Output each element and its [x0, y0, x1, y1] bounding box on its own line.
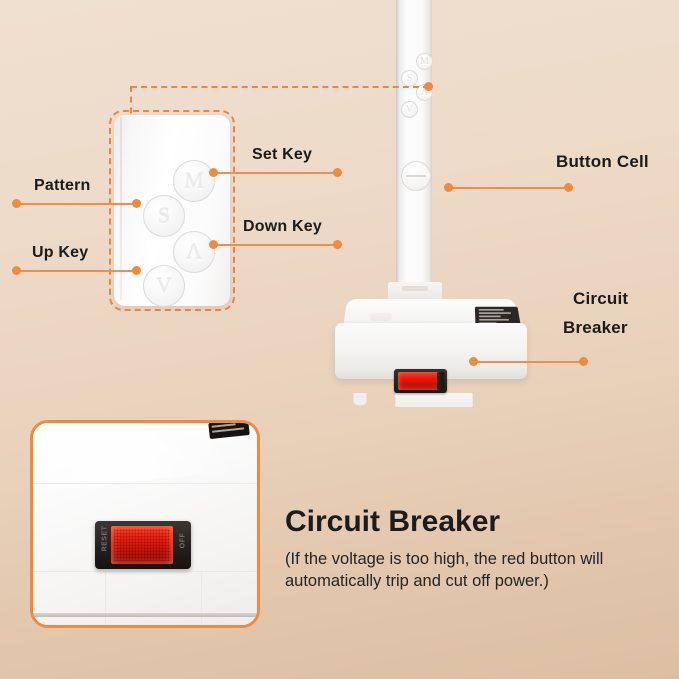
- circuit-breaker-switch-closeup[interactable]: RESET OFF: [95, 521, 191, 569]
- lamp-pole: [396, 0, 432, 293]
- leader-line-circuit-breaker: [473, 361, 583, 363]
- lamp-hinge-slot: [402, 286, 428, 291]
- leader-line-button-cell: [448, 187, 568, 189]
- circuit-breaker-photo-card: RESET OFF: [30, 420, 260, 628]
- leader-dot-down-key-inner: [209, 240, 218, 249]
- photo-seam-bottom: [33, 571, 257, 572]
- panel-down-key[interactable]: Λ: [173, 231, 215, 273]
- label-circuit-breaker-line1: Circuit: [573, 289, 628, 309]
- leader-dot-up-key-inner: [132, 266, 141, 275]
- lamp-pole-edge: [396, 0, 399, 293]
- photo-seam-top: [33, 483, 257, 484]
- infographic-canvas: M S Λ V: [0, 0, 679, 679]
- switch-reset-text: RESET: [102, 519, 109, 559]
- circuit-breaker-red-button[interactable]: [111, 526, 173, 564]
- lamp-product-illustration: M S Λ V: [330, 0, 580, 392]
- photo-seam-vertical-right: [201, 571, 202, 628]
- leader-line-down-key: [213, 244, 337, 246]
- bottom-text-block: Circuit Breaker (If the voltage is too h…: [285, 505, 665, 592]
- label-button-cell: Button Cell: [556, 152, 649, 172]
- leader-dot-set-key-outer: [333, 168, 342, 177]
- label-up-key: Up Key: [32, 244, 88, 262]
- leader-dot-pattern-inner: [132, 199, 141, 208]
- leader-dot-set-key-inner: [209, 168, 218, 177]
- callout-dash-endpoint-dot: [424, 82, 433, 91]
- switch-off-text: OFF: [180, 521, 187, 561]
- lamp-up-key[interactable]: V: [401, 101, 418, 118]
- control-panel-zoom-callout: M S Λ V: [109, 110, 235, 311]
- leader-dot-circuit-breaker-inner: [469, 357, 478, 366]
- leader-dot-pattern-outer: [12, 199, 21, 208]
- lamp-set-key[interactable]: M: [416, 53, 433, 70]
- lamp-pattern-key[interactable]: S: [401, 70, 418, 87]
- lamp-base-seam: [395, 393, 473, 407]
- leader-dot-up-key-outer: [12, 266, 21, 275]
- lamp-base-vent: [370, 313, 392, 321]
- label-pattern: Pattern: [34, 177, 91, 195]
- panel-set-key[interactable]: M: [173, 160, 215, 202]
- lamp-base-foot: [353, 393, 367, 405]
- leader-line-up-key: [16, 270, 136, 272]
- panel-pattern-key[interactable]: S: [143, 195, 185, 237]
- panel-up-key[interactable]: V: [143, 265, 185, 307]
- label-set-key: Set Key: [252, 146, 312, 164]
- leader-line-set-key: [213, 172, 337, 174]
- photo-bottom-shadow: [33, 613, 257, 617]
- button-cell-slot-icon: [406, 175, 426, 177]
- circuit-breaker-switch[interactable]: [394, 369, 447, 393]
- control-panel-face: M S Λ V: [114, 115, 230, 306]
- circuit-breaker-tab: [437, 372, 444, 390]
- lamp-base-front-face: [335, 323, 527, 379]
- photo-seam-vertical-left: [105, 571, 106, 628]
- label-circuit-breaker-line2: Breaker: [563, 318, 628, 338]
- leader-dot-button-cell-outer: [564, 183, 573, 192]
- lamp-base: [335, 295, 525, 383]
- label-down-key: Down Key: [243, 218, 322, 236]
- bottom-heading: Circuit Breaker: [285, 505, 665, 539]
- leader-dot-down-key-outer: [333, 240, 342, 249]
- leader-dot-circuit-breaker-outer: [579, 357, 588, 366]
- callout-dash-horizontal: [131, 86, 429, 88]
- bottom-description: (If the voltage is too high, the red but…: [285, 548, 665, 592]
- leader-dot-button-cell-inner: [444, 183, 453, 192]
- leader-line-pattern: [16, 203, 136, 205]
